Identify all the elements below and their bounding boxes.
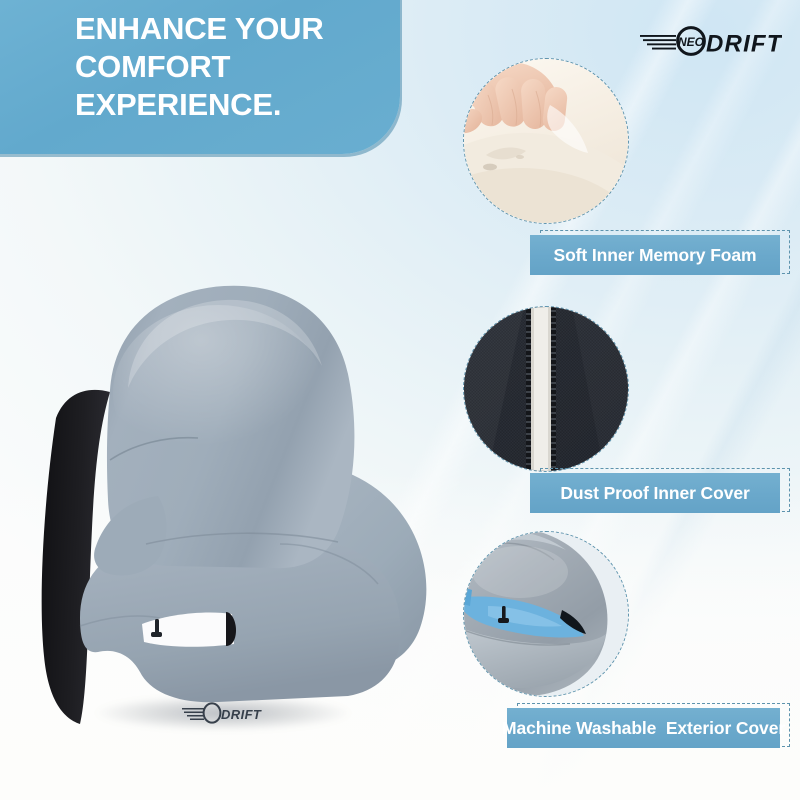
product-infographic: Enhance Your Comfort Experience. NEO DRI… (0, 0, 800, 800)
grey-cover-with-blue-zipper-illustration (464, 532, 628, 696)
feature-image-memory-foam (463, 58, 629, 224)
feature-label-machine-washable-exterior-cover: Machine Washable Exterior Cover (507, 708, 780, 748)
embroidered-neodrift-logo: DRIFT (182, 703, 262, 722)
headline-banner: Enhance Your Comfort Experience. (0, 0, 400, 154)
headline-text: Enhance Your Comfort Experience. (75, 10, 385, 124)
feature-image-dust-proof-cover (463, 306, 629, 472)
svg-text:NEO: NEO (678, 35, 705, 49)
product-image: DRIFT (18, 178, 442, 738)
back-support-pillow-illustration: DRIFT (18, 178, 442, 738)
feature-callout-dust-proof-inner-cover: Dust Proof Inner Cover (455, 300, 795, 518)
svg-text:DRIFT: DRIFT (221, 707, 262, 722)
feature-callout-soft-inner-memory-foam: Soft Inner Memory Foam (455, 52, 795, 280)
hand-pressing-memory-foam-illustration (464, 59, 628, 223)
headline-line-1: Enhance Your (75, 10, 385, 48)
feature-label-dust-proof-inner-cover: Dust Proof Inner Cover (530, 473, 780, 513)
dark-fabric-with-zipper-illustration (464, 307, 628, 471)
feature-image-washable-cover (463, 531, 629, 697)
feature-label-soft-inner-memory-foam: Soft Inner Memory Foam (530, 235, 780, 275)
headline-line-2: Comfort (75, 48, 385, 86)
headline-line-3: Experience. (75, 86, 385, 124)
feature-callout-machine-washable-exterior-cover: Machine Washable Exterior Cover (455, 525, 795, 755)
